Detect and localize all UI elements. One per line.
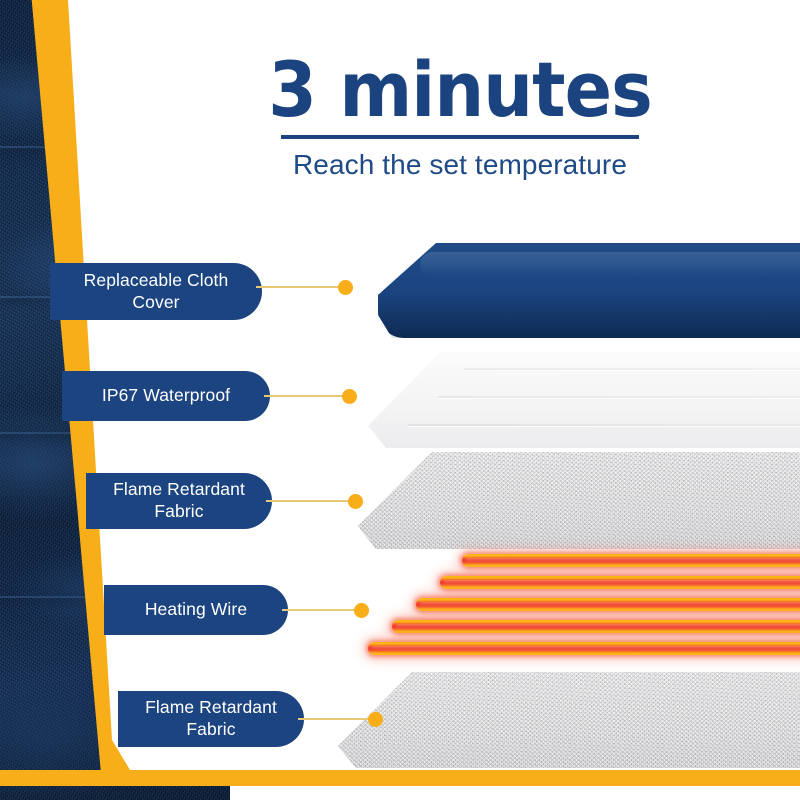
- callout-dot-icon: [338, 280, 353, 295]
- heating-wire: [440, 576, 800, 589]
- callout-dot-icon: [342, 389, 357, 404]
- quilt-ridge: [438, 396, 800, 399]
- callout-connector-line: [266, 500, 352, 502]
- layer-heating-wire-array: [330, 548, 800, 668]
- heating-wire: [462, 554, 800, 567]
- callout-dot-icon: [368, 712, 383, 727]
- callout-label-heating-wire[interactable]: Heating Wire: [104, 585, 288, 635]
- heating-wire: [416, 598, 800, 611]
- layer-waterproof-membrane: [368, 352, 800, 448]
- layer-flame-retardant-fabric-bottom: [338, 672, 800, 768]
- callout-dot-icon: [348, 494, 363, 509]
- callout-label-line1: Replaceable Cloth: [84, 270, 229, 290]
- layer-cloth-cover: [378, 243, 800, 338]
- callout-label-line2: Fabric: [186, 719, 235, 739]
- callout-label-waterproof[interactable]: IP67 Waterproof: [62, 371, 270, 421]
- callout-label-line1: Heating Wire: [145, 599, 247, 621]
- layer-flame-retardant-fabric-top: [358, 452, 800, 549]
- callout-label-line1: Flame Retardant: [145, 697, 277, 717]
- callout-label-cloth-cover[interactable]: Replaceable Cloth Cover: [50, 263, 262, 320]
- callout-label-flame-retardant-top[interactable]: Flame Retardant Fabric: [86, 473, 272, 529]
- heating-wire: [368, 642, 800, 655]
- callout-label-line2: Cover: [132, 292, 179, 312]
- callout-connector-line: [282, 609, 358, 611]
- callout-label-line1: IP67 Waterproof: [102, 385, 230, 407]
- quilt-ridge: [408, 424, 800, 427]
- callout-connector-line: [298, 718, 372, 720]
- callout-connector-line: [256, 286, 342, 288]
- callout-label-line2: Fabric: [154, 501, 203, 521]
- callout-connector-line: [264, 395, 346, 397]
- heating-wire: [392, 620, 800, 633]
- quilt-ridge: [464, 368, 800, 371]
- callout-label-flame-retardant-bottom[interactable]: Flame Retardant Fabric: [118, 691, 304, 747]
- product-infographic: 3 minutes Reach the set temperature Repl…: [0, 0, 800, 800]
- callout-label-line1: Flame Retardant: [113, 479, 245, 499]
- callout-dot-icon: [354, 603, 369, 618]
